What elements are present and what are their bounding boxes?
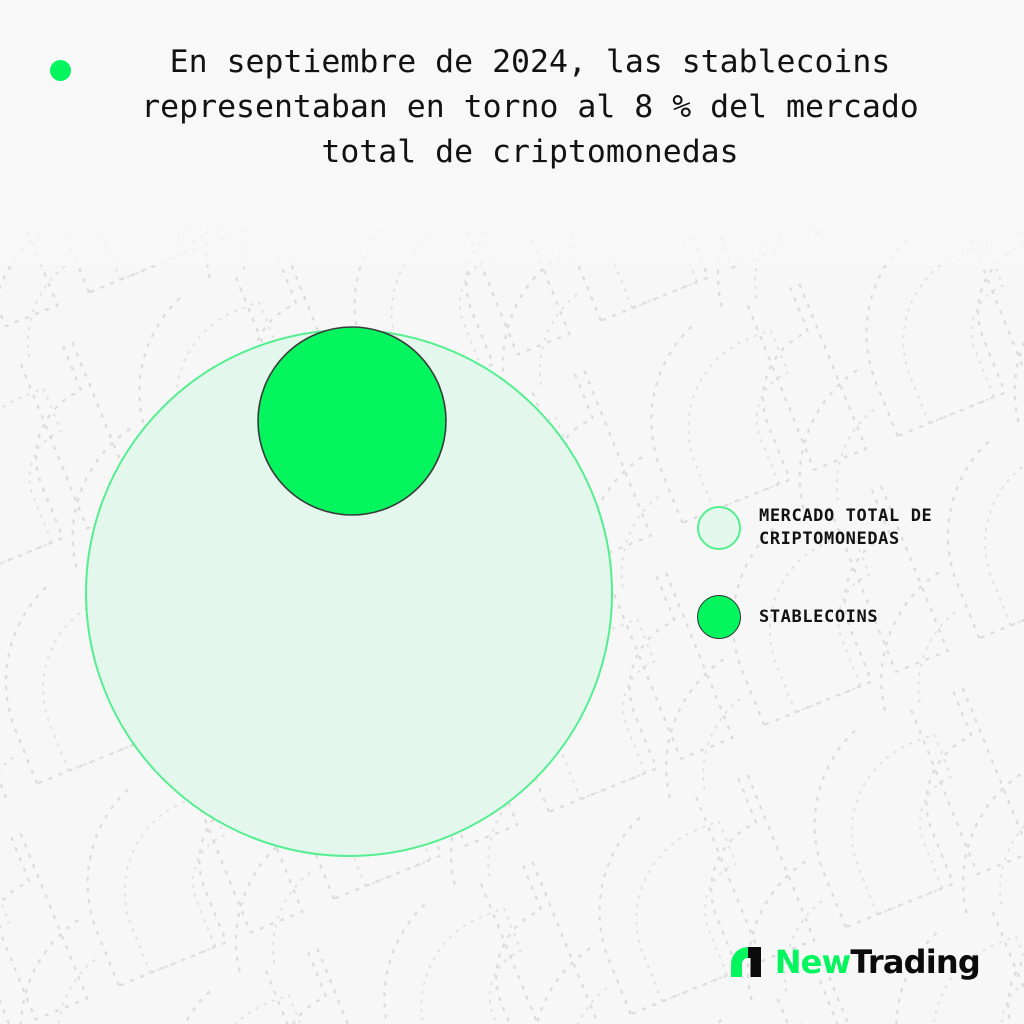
new-trading-n-mark-icon [728,944,764,980]
circle-filled-icon [697,595,741,639]
circle-outline-icon [697,506,741,550]
bullet-dot-icon [50,60,71,81]
legend-item-label: STABLECOINS [759,606,878,629]
legend-item-label: MERCADO TOTAL DE CRIPTOMONEDAS [759,505,932,551]
logo-wordmark: NewTrading [775,946,980,978]
logo-word-new: New [775,943,851,981]
title-block: En septiembre de 2024, las stablecoins r… [0,40,1024,175]
bubble-stablecoins [258,327,446,515]
chart-legend: MERCADO TOTAL DE CRIPTOMONEDAS STABLECOI… [697,505,932,683]
page-title: En septiembre de 2024, las stablecoins r… [0,40,1024,175]
legend-item-mercado-total[interactable]: MERCADO TOTAL DE CRIPTOMONEDAS [697,505,932,551]
legend-item-stablecoins[interactable]: STABLECOINS [697,595,932,639]
infographic-canvas: En septiembre de 2024, las stablecoins r… [0,0,1024,1024]
brand-logo[interactable]: NewTrading [728,944,980,980]
logo-word-trading: Trading [850,943,980,981]
